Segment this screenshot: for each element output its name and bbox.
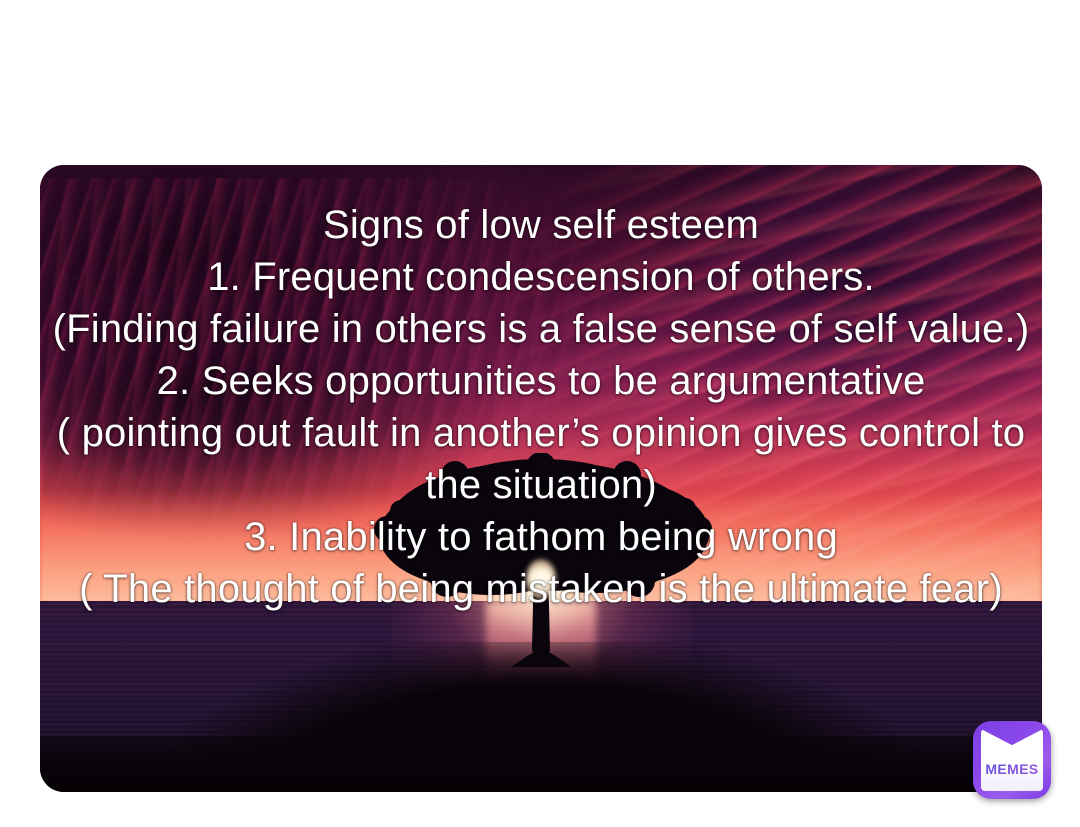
envelope-icon — [981, 729, 1043, 791]
memes-watermark-badge[interactable]: MEMES — [973, 721, 1051, 799]
memes-watermark-label: MEMES — [973, 761, 1051, 777]
foreground-ground — [40, 736, 1042, 792]
meme-card: Signs of low self esteem 1. Frequent con… — [40, 165, 1042, 792]
meme-canvas: Signs of low self esteem 1. Frequent con… — [0, 0, 1080, 827]
meme-caption-text: Signs of low self esteem 1. Frequent con… — [40, 199, 1042, 615]
